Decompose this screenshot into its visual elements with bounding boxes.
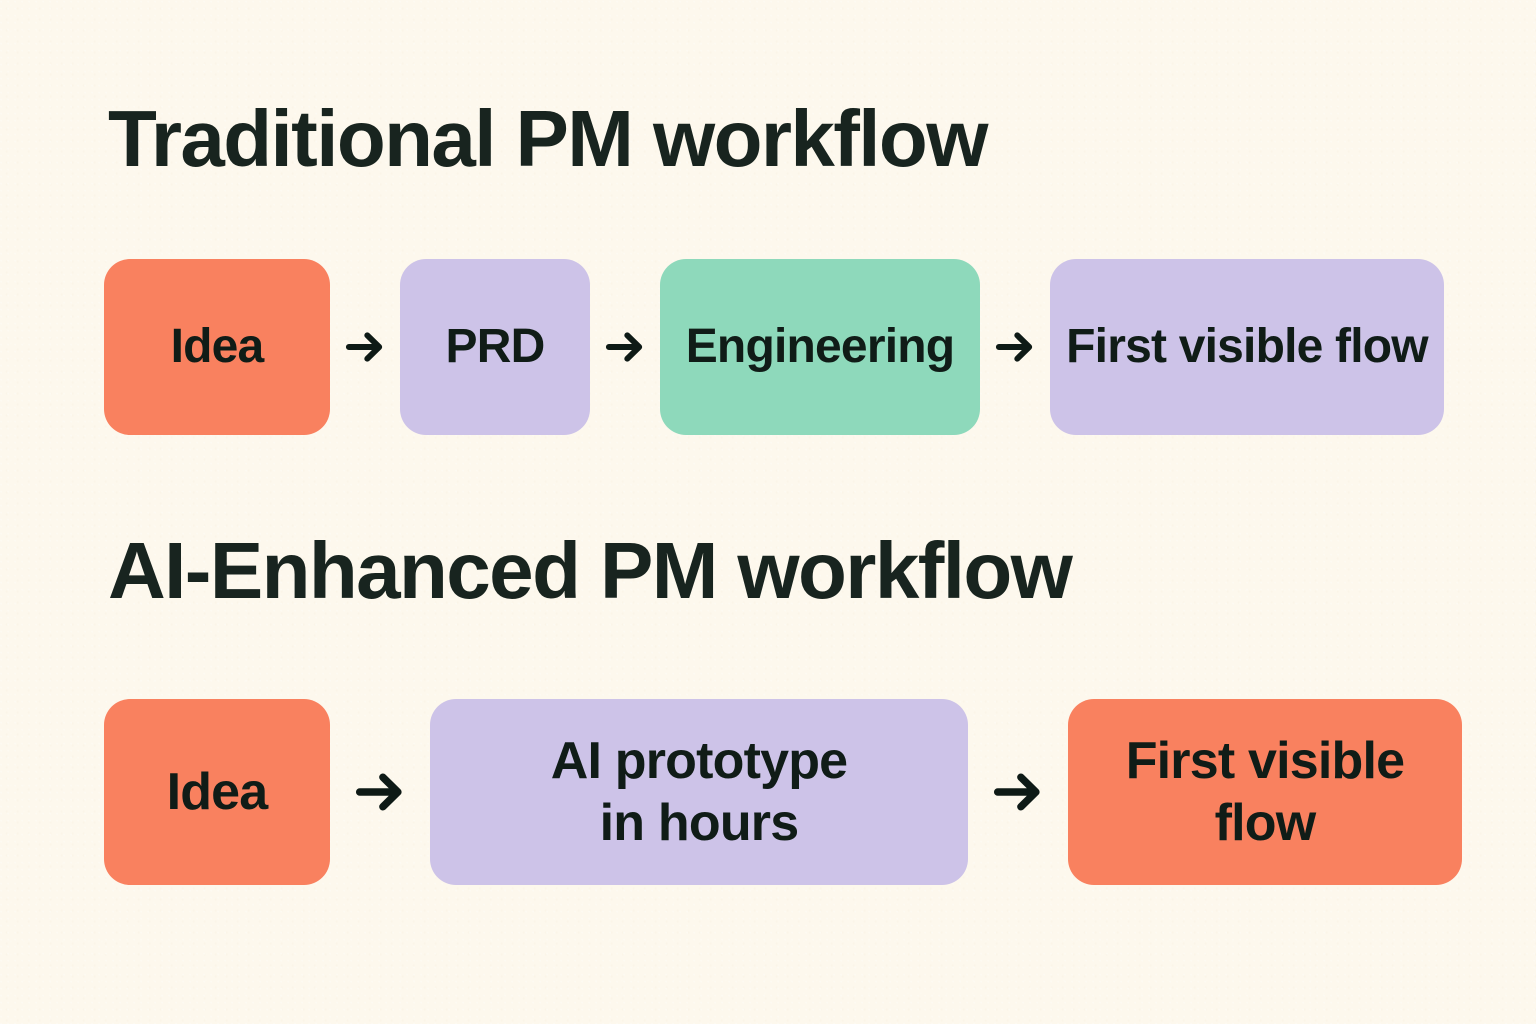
flow-node-engineering[interactable]: Engineering	[660, 259, 980, 435]
flow-node-idea-traditional[interactable]: Idea	[104, 259, 330, 435]
flow-arrow-5	[968, 699, 1068, 885]
flow-node-label-multiline: AI prototype in hours	[551, 730, 848, 855]
flow-node-first-visible-flow-traditional[interactable]: First visible flow	[1050, 259, 1444, 435]
flow-node-prd[interactable]: PRD	[400, 259, 590, 435]
arrow-right-icon	[989, 763, 1047, 821]
arrow-right-icon	[602, 324, 648, 370]
arrow-right-icon	[342, 324, 388, 370]
flow-node-label-line-1: First visible	[1126, 730, 1405, 792]
flow-node-label: First visible flow	[1066, 321, 1428, 373]
workflow-comparison-diagram: Traditional PM workflow Idea PRD Enginee…	[0, 0, 1536, 1024]
flow-node-first-visible-flow-ai[interactable]: First visible flow	[1068, 699, 1462, 885]
flow-arrow-2	[590, 259, 660, 435]
flow-node-label-line-1: AI prototype	[551, 730, 848, 792]
flow-arrow-1	[330, 259, 400, 435]
flow-arrow-3	[980, 259, 1050, 435]
flow-node-label: Engineering	[686, 321, 955, 373]
section-title-ai-enhanced: AI-Enhanced PM workflow	[108, 531, 1071, 611]
flow-row-traditional: Idea PRD Engineering First visible flow	[104, 259, 1444, 435]
flow-node-label: PRD	[446, 321, 545, 373]
flow-node-idea-ai[interactable]: Idea	[104, 699, 330, 885]
flow-row-ai-enhanced: Idea AI prototype in hours First visible…	[104, 699, 1462, 885]
flow-node-label-line-2: flow	[1126, 792, 1405, 854]
flow-node-label: Idea	[167, 761, 268, 823]
flow-node-label: Idea	[171, 321, 264, 373]
section-title-traditional: Traditional PM workflow	[108, 99, 987, 179]
flow-arrow-4	[330, 699, 430, 885]
arrow-right-icon	[992, 324, 1038, 370]
flow-node-ai-prototype[interactable]: AI prototype in hours	[430, 699, 968, 885]
flow-node-label-multiline: First visible flow	[1126, 730, 1405, 855]
flow-node-label-line-2: in hours	[551, 792, 848, 854]
arrow-right-icon	[351, 763, 409, 821]
